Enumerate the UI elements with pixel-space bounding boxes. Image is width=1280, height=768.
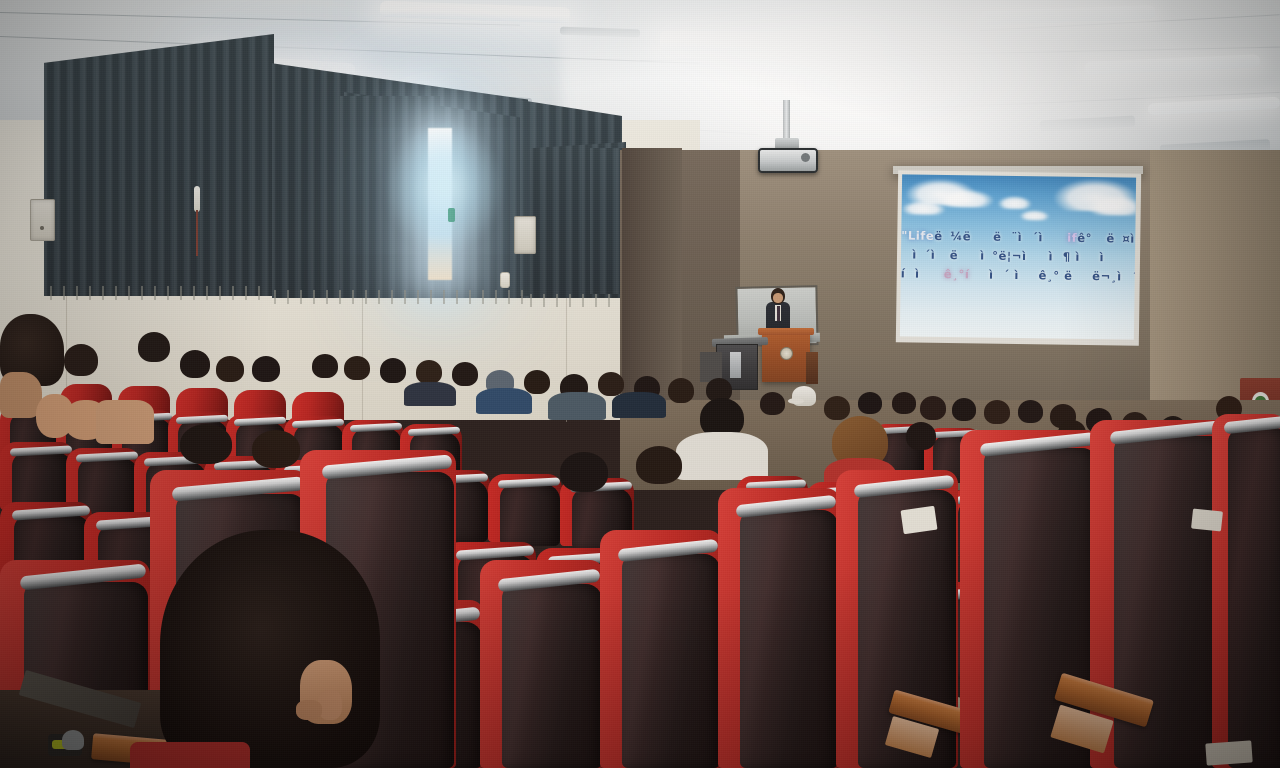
attendee-head <box>252 430 300 468</box>
attendee-head <box>668 378 694 403</box>
projector-pole <box>783 100 790 140</box>
speaker-cone <box>40 226 44 230</box>
auditorium-photo: "Lifeë¼ë ë¨ì´ì ifê° ë¤ì´ê°ë… <box>0 0 1280 768</box>
curtain-valance <box>50 286 270 300</box>
presenter-tie <box>777 306 780 321</box>
wall-sensor <box>500 272 510 288</box>
attendee-shoulders <box>476 388 532 414</box>
attendee-shoulders <box>548 392 606 420</box>
attendee-head <box>64 344 98 376</box>
attendee-head <box>180 424 232 464</box>
attendee-head <box>598 372 624 396</box>
paper-on-seat <box>1191 508 1223 531</box>
presenter-face <box>773 293 783 303</box>
shoe-toe <box>62 730 84 750</box>
attendee-head <box>560 452 608 492</box>
window-light-flare <box>386 122 502 252</box>
paper-on-seat <box>1205 740 1252 765</box>
slide-text: "Lifeë¼ë ë¨ì´ì ifê° ë¤ì´ê°ë… <box>901 226 1136 286</box>
curtain-pull-cord[interactable] <box>194 186 200 212</box>
projector-lens-icon <box>801 153 810 162</box>
attendee-head <box>252 356 280 382</box>
attendee-head <box>138 332 170 362</box>
curtain-cord-line <box>196 210 198 256</box>
attendee-shoulders <box>404 382 456 406</box>
attendee-head <box>920 396 946 420</box>
window-curtain <box>44 34 274 296</box>
attendee-head <box>416 360 442 384</box>
wall-speaker <box>30 199 55 241</box>
auditorium-seat[interactable] <box>718 488 848 768</box>
attendee-head <box>824 396 850 420</box>
attendee-head <box>952 398 976 421</box>
attendee-head <box>344 356 370 380</box>
paper-on-seat <box>900 506 937 534</box>
slide-line-3: í­ì ê¸°íì´ ìê¸° ëë¬¸ì´ë¤. <box>901 264 1135 286</box>
attendee-head <box>452 362 478 386</box>
auditorium-seat[interactable] <box>600 530 730 768</box>
cap-brim <box>788 398 804 404</box>
attendee-head <box>1018 400 1043 423</box>
attendee-head <box>906 422 936 450</box>
podium-emblem-icon <box>780 347 793 360</box>
foreground-attendee-head <box>160 530 380 768</box>
attendee-head <box>858 392 882 414</box>
attendee-head <box>892 392 916 414</box>
podium-side <box>806 352 818 384</box>
projector <box>758 148 818 173</box>
attendee-head <box>984 400 1010 424</box>
attendee-head <box>216 356 244 382</box>
attendee-head <box>636 446 682 484</box>
attendee-head <box>524 370 550 394</box>
curtain-valance <box>274 290 526 304</box>
attendee-head <box>312 354 338 378</box>
attendee-shoulders <box>612 392 666 418</box>
auditorium-seat[interactable] <box>488 474 566 550</box>
attendee-head <box>180 350 210 378</box>
projection-screen: "Lifeë¼ë ë¨ì´ì ifê° ë¤ì´ê°ë… <box>900 174 1136 339</box>
attendee-arm <box>96 400 154 444</box>
auditorium-seat[interactable] <box>1212 414 1280 768</box>
wall-speaker <box>514 216 536 254</box>
window-latch <box>448 208 455 222</box>
podium-top <box>758 328 814 335</box>
auditorium-seat[interactable] <box>480 560 610 768</box>
attendee-head <box>760 392 785 415</box>
av-rack-panel <box>730 352 741 378</box>
attendee-shoulders <box>676 432 768 480</box>
foreground-attendee-finger <box>296 700 322 720</box>
foreground-attendee-shoulder <box>130 742 250 768</box>
attendee-head <box>380 358 406 383</box>
